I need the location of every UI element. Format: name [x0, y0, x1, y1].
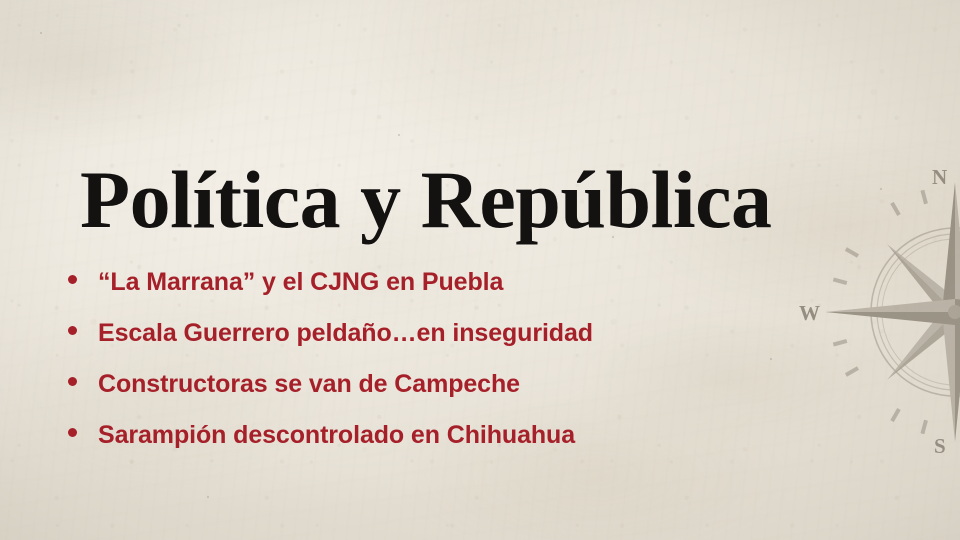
list-item: Sarampión descontrolado en Chihuahua — [68, 423, 593, 474]
slide-title: Política y República — [80, 159, 772, 241]
bullet-text: Escala Guerrero peldaño…en inseguridad — [98, 321, 593, 346]
bullet-text: Sarampión descontrolado en Chihuahua — [98, 423, 575, 448]
bullet-dot-icon — [68, 377, 77, 386]
bullet-dot-icon — [68, 326, 77, 335]
list-item: Escala Guerrero peldaño…en inseguridad — [68, 321, 593, 372]
presentation-slide: N W S Política y República “La Marrana” … — [0, 0, 960, 540]
slide-bullet-list: “La Marrana” y el CJNG en Puebla Escala … — [68, 270, 593, 474]
bullet-text: “La Marrana” y el CJNG en Puebla — [98, 270, 503, 295]
bullet-dot-icon — [68, 428, 77, 437]
list-item: “La Marrana” y el CJNG en Puebla — [68, 270, 593, 321]
bullet-text: Constructoras se van de Campeche — [98, 372, 520, 397]
bullet-dot-icon — [68, 275, 77, 284]
list-item: Constructoras se van de Campeche — [68, 372, 593, 423]
